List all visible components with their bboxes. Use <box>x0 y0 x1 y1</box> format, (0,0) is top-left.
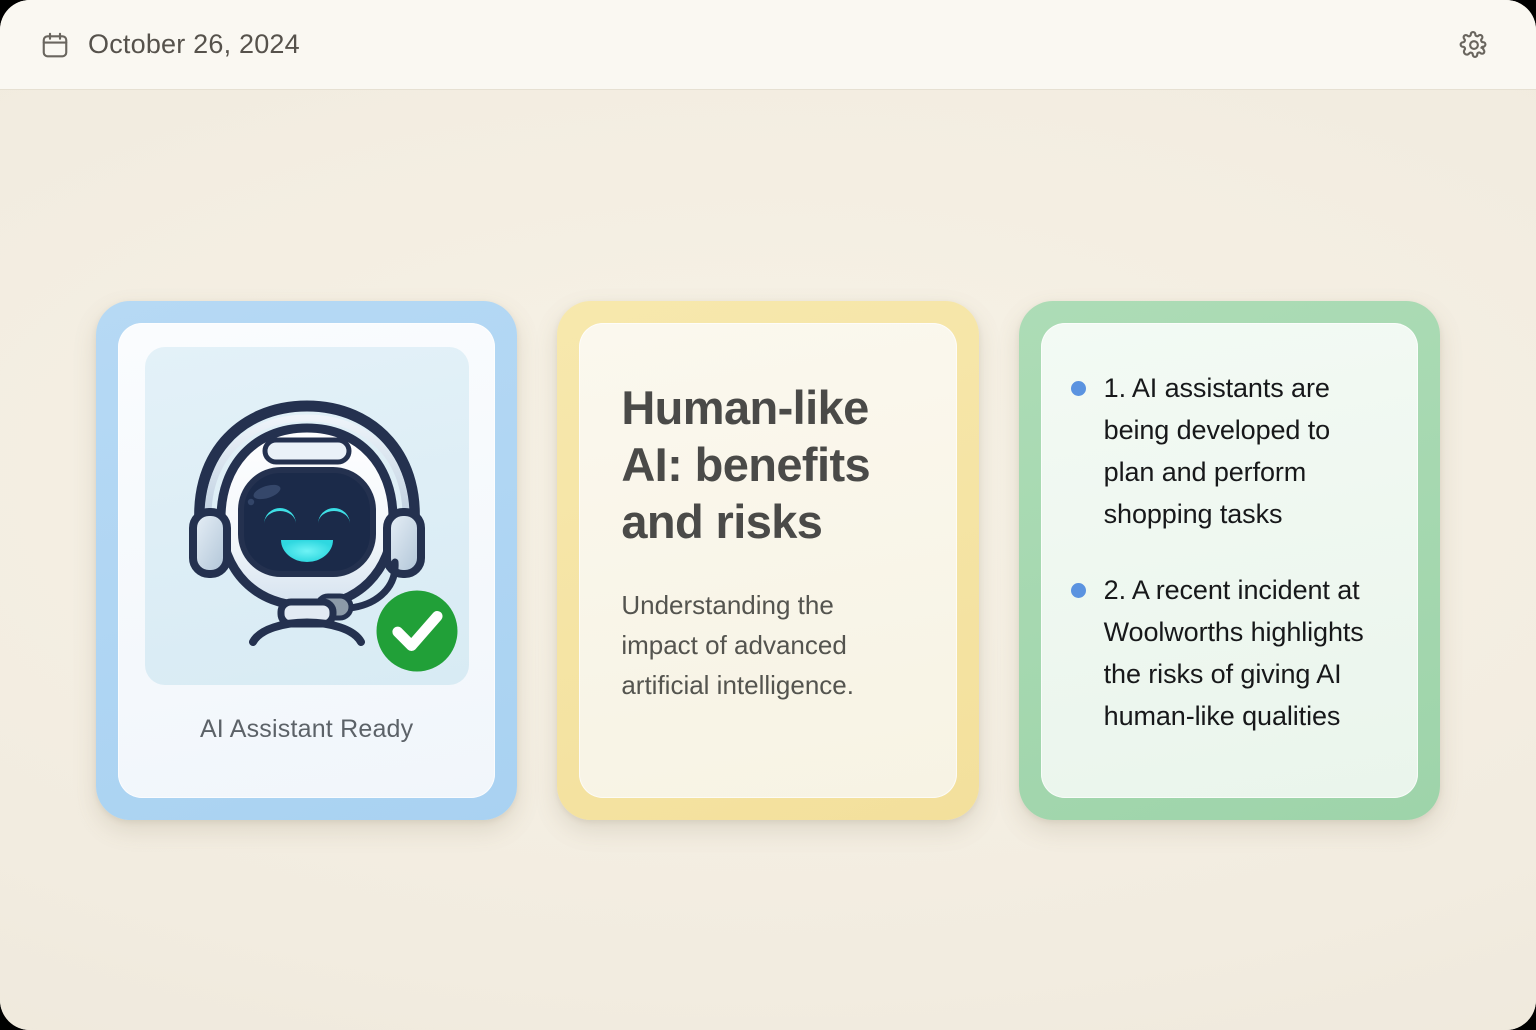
header-date-group: October 26, 2024 <box>40 29 300 60</box>
list-item-text: 2. A recent incident at Woolworths highl… <box>1104 569 1384 737</box>
card-board: AI Assistant Ready Human-like AI: benefi… <box>0 90 1536 1030</box>
subheadline: Understanding the impact of advanced art… <box>621 586 914 705</box>
list-item: 2. A recent incident at Woolworths highl… <box>1071 569 1384 737</box>
summary-card-inner: 1. AI assistants are being developed to … <box>1041 323 1418 798</box>
headline: Human-like AI: benefits and risks <box>621 379 914 551</box>
settings-button[interactable] <box>1454 25 1494 65</box>
title-card[interactable]: Human-like AI: benefits and risks Unders… <box>557 301 978 820</box>
app-header: October 26, 2024 <box>0 0 1536 90</box>
list-item: 1. AI assistants are being developed to … <box>1071 367 1384 535</box>
bullet-dot-icon <box>1071 381 1086 396</box>
title-card-inner: Human-like AI: benefits and risks Unders… <box>579 323 956 798</box>
assistant-illustration-panel <box>145 347 469 685</box>
status-card-inner: AI Assistant Ready <box>118 323 495 798</box>
status-card[interactable]: AI Assistant Ready <box>96 301 517 820</box>
list-item-text: 1. AI assistants are being developed to … <box>1104 367 1384 535</box>
summary-card[interactable]: 1. AI assistants are being developed to … <box>1019 301 1440 820</box>
calendar-icon <box>40 30 70 60</box>
app-window: October 26, 2024 <box>0 0 1536 1030</box>
bullet-dot-icon <box>1071 583 1086 598</box>
gear-icon <box>1459 30 1489 60</box>
check-circle-icon <box>371 585 463 677</box>
status-caption: AI Assistant Ready <box>200 715 413 744</box>
current-date-label: October 26, 2024 <box>88 29 300 60</box>
